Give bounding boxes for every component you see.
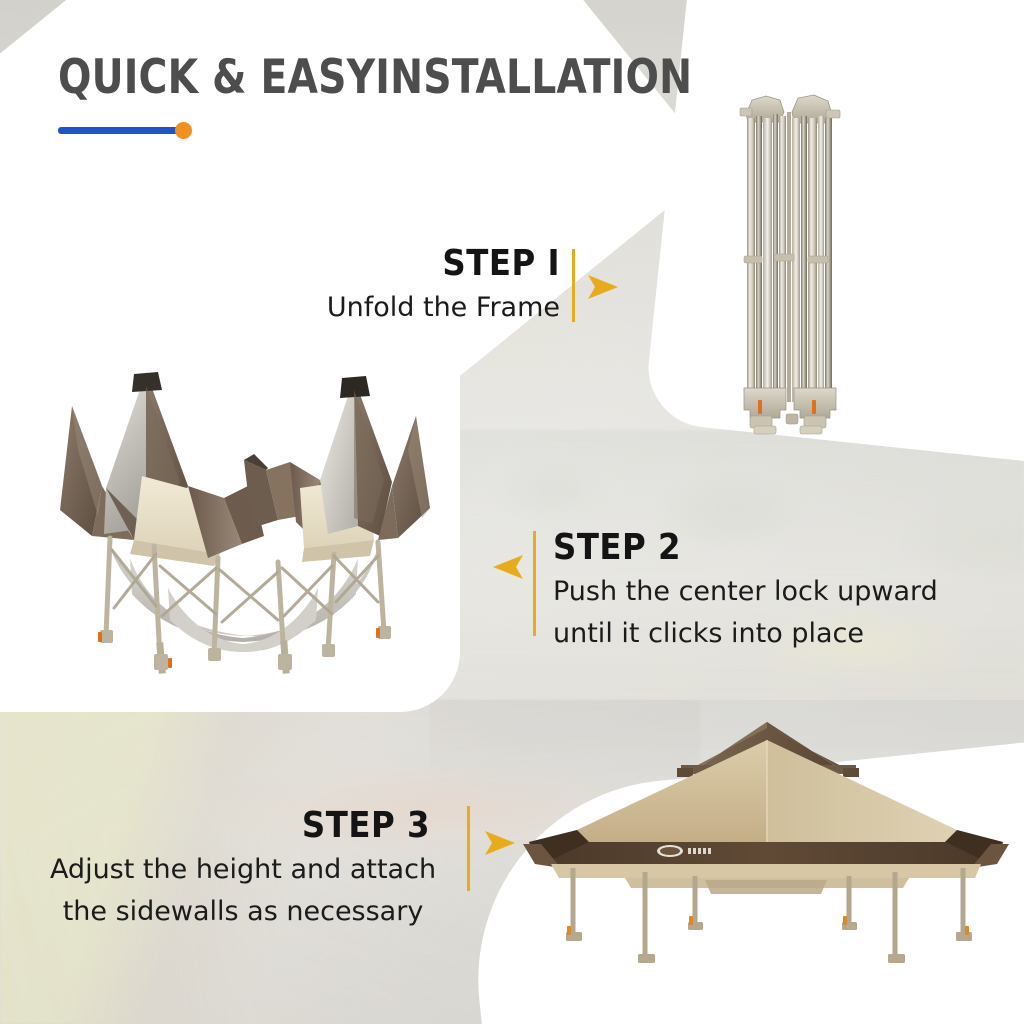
step-2-divider [533,531,536,636]
arrow-right-icon [586,272,620,306]
step-2-block: STEP 2 Push the center lock upward until… [553,527,973,653]
title-underline-bar [58,127,180,134]
step-1-heading: STEP I [296,243,560,285]
step-3-divider [467,806,470,891]
step-3-body-line1: Adjust the height and attach [48,851,438,889]
arrow-right-icon [483,828,517,862]
step-2-body-line1: Push the center lock upward [553,573,973,611]
step-2-body-line2: until it clicks into place [553,615,973,653]
folded-frame-bundle [736,88,846,448]
infographic-canvas: QUICK & EASYINSTALLATION [0,0,1024,1024]
step-3-block: STEP 3 Adjust the height and attach the … [48,805,438,931]
partially-unfolded-canopy [38,358,458,678]
page-title: QUICK & EASYINSTALLATION [58,50,692,105]
step-3-body-line2: the sidewalls as necessary [48,893,438,931]
arrow-left-icon [491,552,525,586]
assembled-gazebo [505,718,1024,978]
title-underline-dot [175,122,192,139]
step-3-heading: STEP 3 [48,805,438,847]
step-2-heading: STEP 2 [553,527,973,569]
step-1-divider [572,249,575,322]
step-1-body-line1: Unfold the Frame [296,289,560,327]
step-1-block: STEP I Unfold the Frame [296,243,560,327]
